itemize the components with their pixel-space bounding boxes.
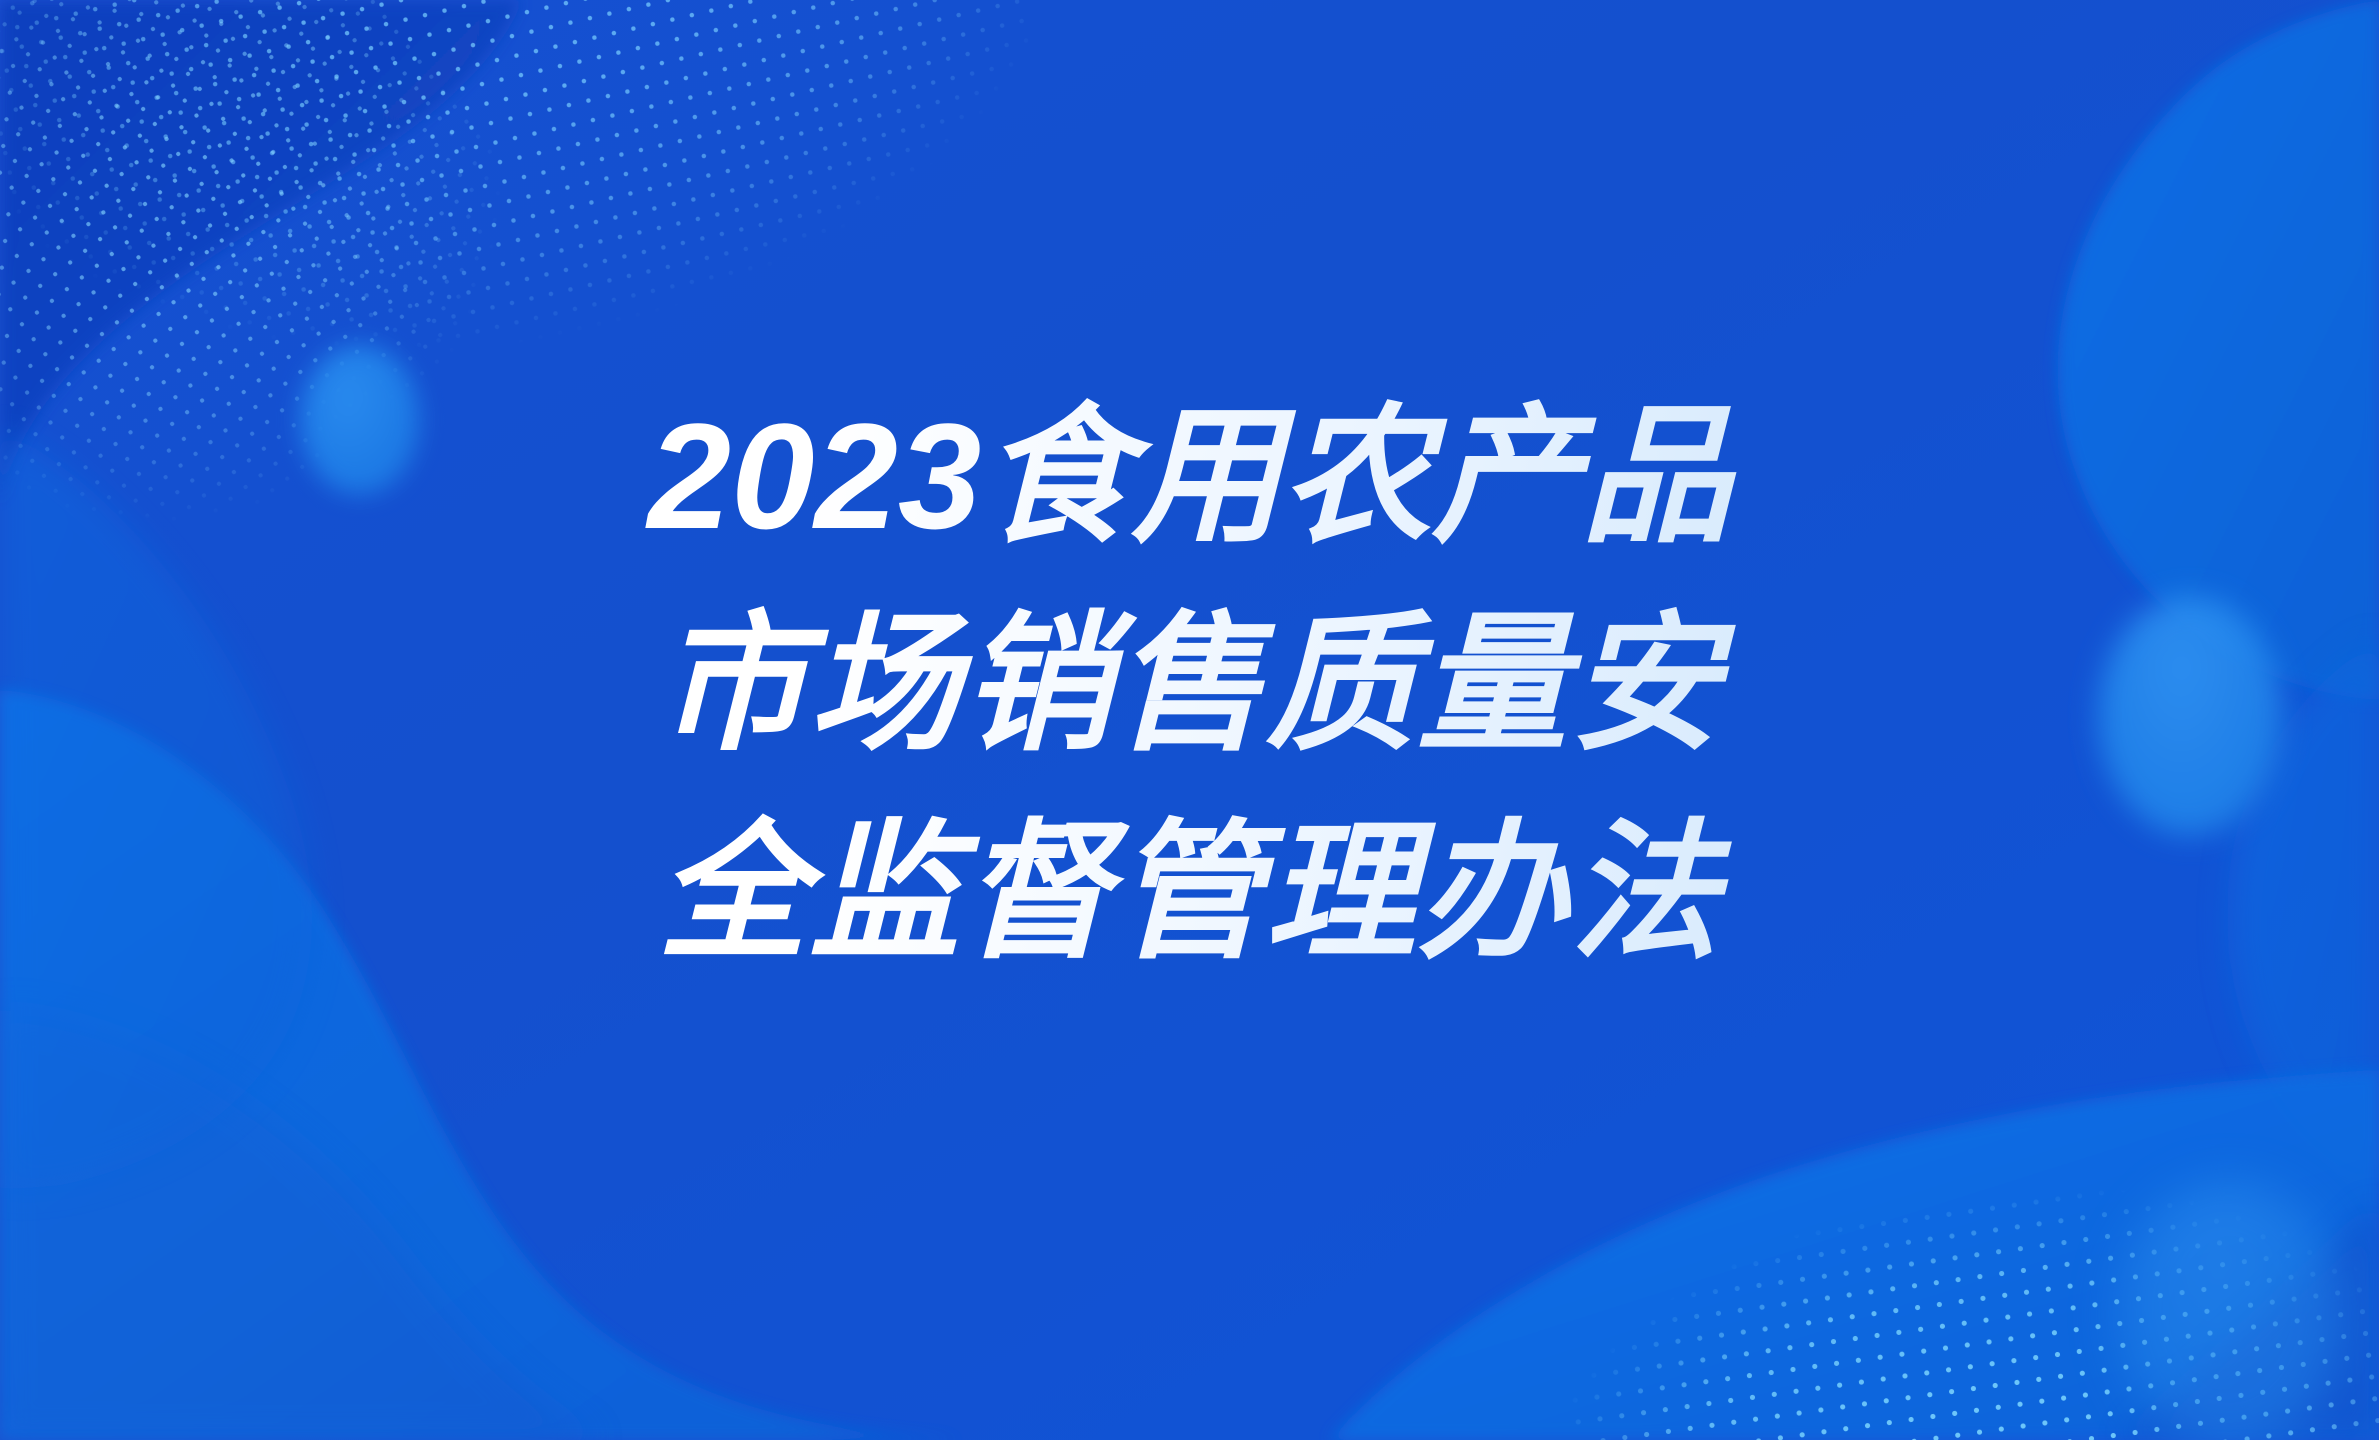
glow-ellipse-right-lower — [2115, 1180, 2345, 1440]
title-line-2: 市场销售质量安 — [0, 580, 2379, 788]
page-title: 2023食用农产品 市场销售质量安 全监督管理办法 — [0, 372, 2379, 996]
title-line-1: 2023食用农产品 — [0, 372, 2379, 580]
wedge-bottom-right — [2120, 1200, 2379, 1440]
title-poster: 2023食用农产品 市场销售质量安 全监督管理办法 — [0, 0, 2379, 1440]
blob-bottom-right — [1330, 1070, 2379, 1440]
dot-field-bottom-right — [1535, 1069, 2379, 1440]
blob-bottom-left-secondary — [0, 1010, 600, 1440]
title-line-3: 全监督管理办法 — [0, 788, 2379, 996]
